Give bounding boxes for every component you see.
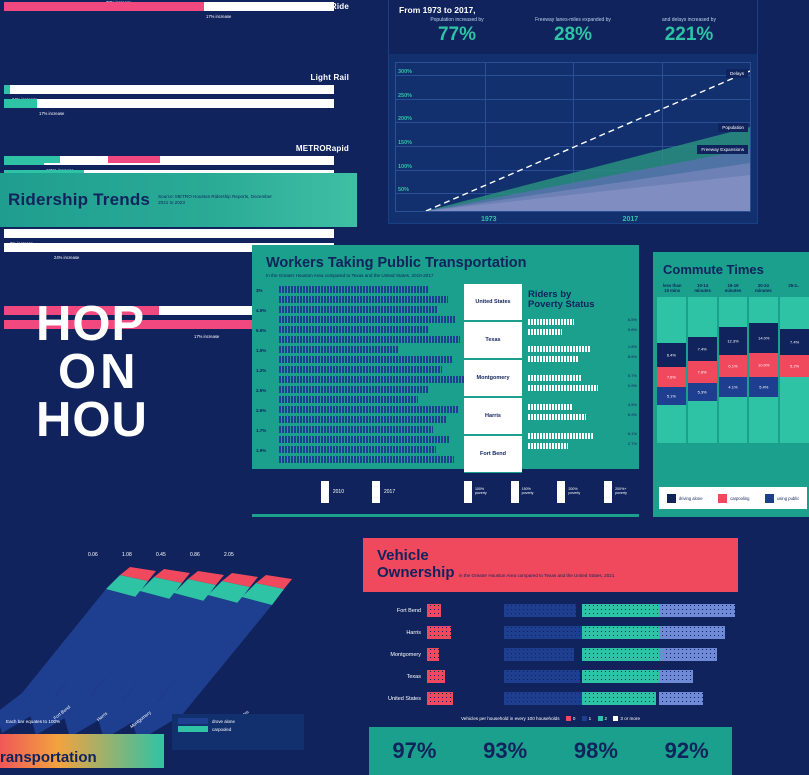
logo-line-hop: HOP	[36, 300, 241, 348]
poverty-dot-bar	[528, 375, 582, 381]
legend-swatch-carpooling	[718, 494, 727, 503]
growth-plot-area: 300% 250% 200% 150% 100% 50% Delays Popu…	[395, 62, 751, 212]
commute-segment: 7.8%	[688, 361, 717, 383]
row-cells	[427, 668, 730, 686]
commute-column: 7.4% 7.8% 5.3%	[688, 297, 717, 443]
commute-segment: 5.3%	[688, 383, 717, 401]
cell-1-vehicle	[504, 624, 575, 642]
ridership-group-label: Light Rail	[311, 73, 349, 82]
commute-title: Commute Times	[653, 252, 809, 283]
isometric-transportation-panel: 0.06 1.08 0.45 0.86 2.05 Fort Bend Harri…	[0, 537, 308, 768]
poverty-row: 4.5% 6.9%	[522, 402, 639, 431]
workers-bar	[278, 346, 398, 353]
legend-label-driving-alone: driving alone	[679, 496, 703, 501]
ridership-footer: Ridership Trends Source: METRO Houston R…	[0, 173, 357, 227]
commute-segment: 7.4%	[688, 337, 717, 361]
commute-segment	[688, 297, 717, 337]
workers-bar	[278, 326, 428, 333]
ridership-bar-track	[4, 99, 334, 108]
commute-segment	[749, 297, 778, 323]
growth-chart-panel: From 1973 to 2017, Population increased …	[388, 0, 758, 224]
legend-item-drove-alone: drove alone	[178, 718, 298, 724]
legend-swatch-2	[598, 716, 603, 721]
legend-label-2: 2	[605, 716, 608, 721]
ridership-title: Ridership Trends	[8, 190, 150, 210]
commute-value: 5.1%	[667, 394, 676, 399]
vehicle-title-line2: Ownership	[377, 565, 455, 581]
legend-item-carpooled: carpooled	[178, 726, 298, 732]
workers-bar	[278, 456, 454, 463]
legend-label-2021-2022: 2021-2022	[66, 156, 92, 162]
cell-3-or-more	[659, 690, 730, 708]
vehicle-legend-text: Vehicles per household in every 100 hous…	[461, 716, 560, 721]
commute-segment: 14.0%	[749, 323, 778, 353]
cell-2-vehicles	[582, 646, 653, 664]
cell-0-vehicles	[427, 646, 498, 664]
ridership-bar-pct: 17% increase	[206, 14, 231, 19]
commute-value: 10.0%	[758, 363, 769, 368]
growth-title: From 1973 to 2017,	[399, 5, 747, 15]
row-cells	[427, 624, 730, 642]
commute-segment: 7.4%	[780, 329, 809, 355]
legend-swatch-1	[582, 716, 587, 721]
vehicle-header: Vehicle Ownership in the Greater Houston…	[363, 538, 738, 592]
legend-swatch-0	[566, 716, 571, 721]
poverty-key-label: 200%+ poverty	[615, 488, 639, 496]
commute-columns: 6.4% 7.6% 5.1% 7.4% 7.8% 5.3% 12.3% 6.1%…	[653, 293, 809, 443]
legend-swatch-using-public	[765, 494, 774, 503]
cell-1-vehicle	[504, 602, 575, 620]
poverty-row: 1.8% 8.6%	[522, 344, 639, 373]
poverty-key-200-plus: 200%+ poverty	[604, 481, 639, 503]
commute-segment	[719, 397, 748, 443]
region-label-united-states: United States	[464, 284, 522, 321]
iso-value: 1.08	[122, 552, 132, 558]
commute-segment: 6.4%	[657, 343, 686, 367]
region-label-harris: Harris	[464, 398, 522, 435]
poverty-key-label: 150% poverty	[522, 488, 544, 496]
commute-column: 6.4% 7.6% 5.1%	[657, 297, 686, 443]
legend-label-0: 0	[573, 716, 576, 721]
row-cells	[427, 646, 730, 664]
big-stat-value: 98%	[551, 738, 642, 764]
poverty-key-200: 200% poverty	[557, 481, 590, 503]
column-header-lt10: less than10 mins	[657, 283, 687, 293]
table-row: Harris	[371, 622, 730, 644]
table-row: Montgomery	[371, 644, 730, 666]
commute-times-panel: Commute Times less than10 mins 10-14minu…	[653, 252, 809, 517]
workers-subtitle: In the Greater Houston Area compared to …	[266, 273, 629, 278]
ridership-group: Light Rail 24% increase 17% increase	[0, 65, 357, 112]
series-label-population: Population	[718, 123, 748, 132]
legend-label-drove-alone: drove alone	[212, 719, 235, 724]
commute-value: 5.3%	[698, 390, 707, 395]
workers-region-list: United States Texas Montgomery Harris Fo…	[464, 284, 522, 469]
year-label-2010: 2010	[333, 489, 344, 495]
growth-stat-caption: and delays increased by	[631, 17, 747, 23]
poverty-dot-bar	[528, 329, 562, 335]
logo-line-on: ON	[36, 348, 241, 396]
commute-segment: 5.4%	[749, 377, 778, 397]
table-row: Texas	[371, 666, 730, 688]
growth-stat-value: 221%	[631, 25, 747, 44]
ridership-group: Park & Ride 78% increase 17% increase	[0, 0, 357, 41]
ridership-bar-pct: 17% increase	[39, 111, 64, 116]
year-key-2010: 2010	[321, 481, 344, 503]
workers-bar	[278, 376, 464, 383]
commute-segment: 4.1%	[719, 377, 748, 397]
commute-value: 5.4%	[759, 385, 768, 390]
cell-3-or-more	[659, 646, 730, 664]
poverty-value: 1.8%	[628, 344, 637, 349]
cell-3-or-more	[659, 602, 730, 620]
growth-stat: and delays increased by 221%	[631, 17, 747, 44]
poverty-row: 5.7% 0.9%	[522, 373, 639, 402]
iso-footer-title: ransportation	[0, 749, 97, 766]
growth-stat: Population increased by 77%	[399, 17, 515, 44]
legend-label-3-or-more: 3 or more	[620, 716, 640, 721]
y-axis-tick: 1.5%	[256, 348, 266, 353]
cell-3-or-more	[659, 624, 730, 642]
legend-swatch-3-or-more	[613, 716, 618, 721]
ridership-legend: 2021-2022 2022-2023	[0, 146, 357, 172]
legend-item-carpooling: carpooling	[718, 494, 749, 503]
commute-column: 7.4% 5.2%	[780, 297, 809, 443]
region-label-montgomery: Montgomery	[464, 360, 522, 397]
poverty-dot-bar	[528, 346, 590, 352]
commute-value: 7.4%	[698, 347, 707, 352]
big-stat-value: 93%	[460, 738, 551, 764]
commute-column: 12.3% 6.1% 4.1%	[719, 297, 748, 443]
series-label-delays: Delays	[726, 69, 748, 78]
ridership-bar-track	[4, 229, 334, 238]
workers-bar	[278, 296, 448, 303]
legend-item-using-public: using public	[765, 494, 799, 503]
growth-stat-caption: Freeway lanes-miles expanded by	[515, 17, 631, 23]
y-axis-tick: 1.7%	[256, 428, 266, 433]
series-label-freeway-expansions: Freeway Expansions	[697, 145, 748, 154]
commute-value: 14.0%	[758, 336, 769, 341]
poverty-row: 6.1% 2.7%	[522, 431, 639, 460]
ridership-bar-row: 17% increase	[4, 0, 344, 13]
commute-segment	[657, 297, 686, 343]
poverty-key-label: 200% poverty	[568, 488, 590, 496]
workers-footer: 2010 2017 100% poverty 150% poverty 200%…	[252, 469, 639, 514]
ridership-bar-pct: 24% increase	[54, 255, 79, 260]
vehicle-ownership-panel: Vehicle Ownership in the Greater Houston…	[363, 538, 738, 768]
year-chip	[321, 481, 329, 503]
cell-2-vehicles	[582, 624, 653, 642]
y-axis-tick: 2.5%	[256, 388, 266, 393]
legend-item-driving-alone: driving alone	[667, 494, 703, 503]
commute-segment: 5.2%	[780, 355, 809, 377]
hop-on-hou-logo: HOP ON HOU	[36, 300, 241, 460]
poverty-row: 6.5% 5.6%	[522, 315, 639, 344]
poverty-chip	[604, 481, 612, 503]
workers-bar	[278, 406, 458, 413]
legend-swatch-driving-alone	[667, 494, 676, 503]
poverty-dot-bar	[528, 356, 578, 362]
x-axis-tick: 2017	[623, 216, 639, 223]
poverty-value: 8.6%	[628, 354, 637, 359]
y-axis-tick: 2.6%	[256, 408, 266, 413]
ridership-bar-row: 17% increase	[4, 97, 344, 110]
workers-header: Workers Taking Public Transportation In …	[252, 245, 639, 284]
y-axis-tick: 1.9%	[256, 448, 266, 453]
poverty-chip	[464, 481, 472, 503]
year-label-2017: 2017	[384, 489, 395, 495]
cell-1-vehicle	[504, 668, 575, 686]
poverty-dot-bar	[528, 319, 574, 325]
workers-bar	[278, 356, 453, 363]
growth-stat-caption: Population increased by	[399, 17, 515, 23]
workers-bar	[278, 446, 436, 453]
ridership-source: Source: METRO Houston Ridership Reports,…	[158, 194, 278, 206]
ridership-bar-row: 24% increase	[4, 83, 344, 96]
commute-legend: driving alone carpooling using public	[659, 487, 807, 509]
workers-bar	[278, 306, 438, 313]
workers-bar	[278, 396, 418, 403]
poverty-key-100: 100% poverty	[464, 481, 497, 503]
vehicle-subtitle: in the Greater Houston Area compared to …	[459, 573, 614, 578]
poverty-dot-bar	[528, 443, 568, 449]
legend-swatch-2021-2022	[8, 156, 60, 163]
iso-value: 0.06	[88, 552, 98, 558]
growth-stat-value: 28%	[515, 25, 631, 44]
commute-segment: 5.1%	[657, 387, 686, 405]
workers-bar	[278, 426, 433, 433]
commute-segment	[780, 297, 809, 329]
row-cells	[427, 690, 730, 708]
isometric-bars-svg	[0, 537, 308, 737]
riders-by-poverty-status: Riders byPoverty Status 6.5% 5.6% 1.8% 8…	[522, 284, 639, 469]
row-label-montgomery: Montgomery	[371, 652, 427, 658]
workers-bar	[278, 436, 450, 443]
ridership-bar-row: 8% increase	[4, 227, 344, 240]
commute-column-headers: less than10 mins 10-14minutes 15-19minut…	[653, 283, 809, 293]
poverty-title: Riders byPoverty Status	[522, 290, 639, 311]
workers-bar-chart: 3% 4.5% 5.5% 1.5% 1.2% 2.5% 2.6% 1.7% 1.…	[252, 284, 464, 469]
commute-segment: 7.6%	[657, 367, 686, 387]
workers-poverty-key: 100% poverty 150% poverty 200% poverty 2…	[464, 469, 639, 514]
poverty-value: 4.5%	[628, 402, 637, 407]
legend-label-carpooling: carpooling	[730, 496, 749, 501]
logo-line-hou: HOU	[36, 396, 241, 444]
row-cells	[427, 602, 730, 620]
poverty-chip	[511, 481, 519, 503]
region-label-texas: Texas	[464, 322, 522, 359]
row-label-texas: Texas	[371, 674, 427, 680]
poverty-dot-bar	[528, 385, 598, 391]
cell-0-vehicles	[427, 624, 498, 642]
commute-value: 5.2%	[790, 364, 799, 369]
ridership-bar-fill	[4, 243, 66, 252]
legend-label-using-public: using public	[777, 496, 799, 501]
poverty-value: 2.7%	[628, 441, 637, 446]
workers-year-key: 2010 2017	[252, 469, 464, 514]
poverty-rows: 6.5% 5.6% 1.8% 8.6% 5.7% 0.9%	[522, 315, 639, 460]
workers-bar	[278, 316, 456, 323]
commute-value: 7.8%	[698, 370, 707, 375]
legend-label-2022-2023: 2022-2023	[166, 156, 192, 162]
workers-bar	[278, 366, 442, 373]
column-header-20-24: 20-24minutes	[748, 283, 778, 293]
growth-stat-value: 77%	[399, 25, 515, 44]
iso-legend: drove alone carpooled	[172, 714, 304, 750]
commute-segment	[749, 397, 778, 443]
legend-swatch-drove-alone	[178, 718, 208, 724]
row-label-united-states: United States	[371, 696, 427, 702]
poverty-value: 0.9%	[628, 383, 637, 388]
ridership-bar-fill	[4, 2, 204, 11]
iso-value: 2.05	[224, 552, 234, 558]
poverty-chip	[557, 481, 565, 503]
commute-segment: 12.3%	[719, 327, 748, 355]
workers-body: 3% 4.5% 5.5% 1.5% 1.2% 2.5% 2.6% 1.7% 1.…	[252, 284, 639, 469]
year-chip	[372, 481, 380, 503]
y-axis-tick: 4.5%	[256, 308, 266, 313]
commute-segment	[780, 377, 809, 443]
column-header-25-plus: 25-2..	[779, 283, 809, 293]
cell-2-vehicles	[582, 602, 653, 620]
commute-value: 7.6%	[667, 375, 676, 380]
cell-0-vehicles	[427, 602, 498, 620]
big-stat-value: 97%	[369, 738, 460, 764]
workers-bar	[278, 416, 446, 423]
cell-3-or-more	[659, 668, 730, 686]
workers-bar	[278, 286, 428, 293]
commute-value: 4.1%	[728, 385, 737, 390]
commute-value: 7.4%	[790, 340, 799, 345]
year-key-2017: 2017	[372, 481, 395, 503]
commute-value: 12.3%	[727, 339, 738, 344]
vehicle-rows: Fort Bend Harris Montgomery	[363, 592, 738, 714]
commute-value: 6.4%	[667, 353, 676, 358]
row-label-harris: Harris	[371, 630, 427, 636]
poverty-value: 5.6%	[628, 327, 637, 332]
workers-public-transportation-panel: Workers Taking Public Transportation In …	[252, 245, 639, 517]
column-header-10-14: 10-14minutes	[687, 283, 717, 293]
legend-swatch-2022-2023	[108, 156, 160, 163]
poverty-dot-bar	[528, 414, 586, 420]
cell-1-vehicle	[504, 690, 575, 708]
ridership-bar-fill	[4, 99, 37, 108]
poverty-value: 6.5%	[628, 317, 637, 322]
commute-value: 6.1%	[728, 364, 737, 369]
poverty-value: 6.1%	[628, 431, 637, 436]
growth-stats: Population increased by 77% Freeway lane…	[399, 17, 747, 44]
ridership-bar-fill	[4, 85, 10, 94]
ridership-trends-panel: Park & Ride 78% increase 17% increase Li…	[0, 0, 357, 227]
region-label-fort-bend: Fort Bend	[464, 436, 522, 473]
poverty-value: 6.9%	[628, 412, 637, 417]
workers-bar	[278, 386, 428, 393]
poverty-dot-bar	[528, 433, 594, 439]
growth-series-svg	[396, 63, 750, 211]
ridership-bar-fill	[4, 229, 26, 238]
poverty-value: 5.7%	[628, 373, 637, 378]
legend-label-carpooled: carpooled	[212, 727, 231, 732]
poverty-key-150: 150% poverty	[511, 481, 544, 503]
iso-value: 0.45	[156, 552, 166, 558]
commute-column: 14.0% 10.0% 5.4%	[749, 297, 778, 443]
growth-stat: Freeway lanes-miles expanded by 28%	[515, 17, 631, 44]
legend-swatch-carpooled	[178, 726, 208, 732]
cell-2-vehicles	[582, 668, 653, 686]
poverty-dot-bar	[528, 404, 572, 410]
table-row: United States	[371, 688, 730, 710]
iso-value: 0.86	[190, 552, 200, 558]
cell-0-vehicles	[427, 668, 498, 686]
vehicle-title-line1: Vehicle	[377, 548, 728, 564]
row-label-fort-bend: Fort Bend	[371, 608, 427, 614]
commute-segment	[719, 297, 748, 327]
legend-label-1: 1	[589, 716, 592, 721]
commute-segment: 6.1%	[719, 355, 748, 377]
commute-segment: 10.0%	[749, 353, 778, 377]
cell-1-vehicle	[504, 646, 575, 664]
workers-title: Workers Taking Public Transportation	[266, 255, 629, 271]
y-axis-tick: 5.5%	[256, 328, 266, 333]
ridership-bar-track	[4, 85, 334, 94]
cell-2-vehicles	[582, 690, 653, 708]
commute-segment	[657, 405, 686, 443]
y-axis-tick: 3%	[256, 288, 263, 293]
commute-segment	[688, 401, 717, 443]
y-axis-tick: 1.2%	[256, 368, 266, 373]
x-axis-tick: 1973	[481, 216, 497, 223]
column-header-15-19: 15-19minutes	[718, 283, 748, 293]
table-row: Fort Bend	[371, 600, 730, 622]
cell-0-vehicles	[427, 690, 498, 708]
iso-note: Each bar equates to 100%	[6, 719, 60, 724]
workers-bar	[278, 336, 460, 343]
big-stat-value: 92%	[641, 738, 732, 764]
iso-footer: ransportation	[0, 734, 164, 768]
growth-header: From 1973 to 2017, Population increased …	[389, 0, 757, 54]
vehicle-legend: Vehicles per household in every 100 hous…	[363, 714, 738, 721]
poverty-key-label: 100% poverty	[475, 488, 497, 496]
